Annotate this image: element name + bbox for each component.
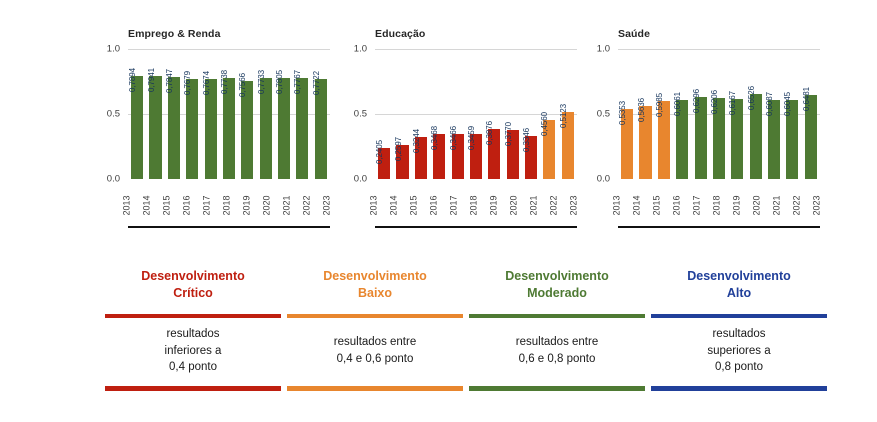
bar-value-label: 0,7722 [312, 71, 321, 95]
bar-slot: 0,6481 [802, 49, 820, 179]
bar-slot: 0,5636 [636, 49, 654, 179]
bar-value-label: 0,3346 [522, 128, 531, 152]
y-tick: 1.0 [597, 44, 610, 55]
bar-slot: 0,7941 [146, 49, 164, 179]
chart-emprego-renda: Emprego & Renda 1.0 0.5 0.0 0,78940,7941… [98, 28, 338, 243]
bar[interactable]: 0,6087 [768, 100, 780, 179]
bar-value-label: 0,5353 [618, 101, 627, 125]
bar[interactable]: 0,3468 [433, 134, 445, 179]
x-axis: 2013201420152016201720182019202020212022… [375, 176, 577, 222]
bar[interactable]: 0,3244 [415, 137, 427, 179]
bar-series: 0,24050,25970,32440,34680,34660,34590,38… [375, 49, 577, 179]
bar-value-label: 0,3459 [467, 126, 476, 150]
legend-title-line1: Desenvolvimento [687, 269, 791, 283]
bar[interactable]: 0,6061 [676, 100, 688, 179]
legend-title: Desenvolvimento Moderado [469, 268, 645, 308]
bar-value-label: 0,3244 [412, 129, 421, 153]
legend-desc-line2: inferiores a [165, 343, 222, 360]
bar[interactable]: 0,3466 [452, 134, 464, 179]
bar-value-label: 0,2405 [375, 140, 384, 164]
bar-value-label: 0,4560 [540, 112, 549, 136]
x-axis: 2013201420152016201720182019202020212022… [128, 176, 330, 222]
bar-slot: 0,7674 [201, 49, 219, 179]
bar[interactable]: 0,7674 [205, 79, 217, 179]
legend-rule-bottom [287, 386, 463, 391]
legend-desc-line3: 0,8 ponto [715, 359, 763, 376]
plot-area: 1.0 0.5 0.0 0,53530,56360,59850,60610,62… [588, 49, 828, 194]
x-axis: 2013201420152016201720182019202020212022… [618, 176, 820, 222]
bar[interactable]: 0,6206 [713, 98, 725, 179]
legend-rule-bottom [469, 386, 645, 391]
legend-item-alto: Desenvolvimento Alto resultados superior… [651, 268, 827, 391]
y-tick: 1.0 [354, 44, 367, 55]
bar-value-label: 0,3876 [485, 121, 494, 145]
bar-slot: 0,6296 [691, 49, 709, 179]
legend-title-line1: Desenvolvimento [141, 269, 245, 283]
plot-canvas: 0,24050,25970,32440,34680,34660,34590,38… [375, 49, 577, 179]
bar[interactable]: 0,2405 [378, 148, 390, 179]
bar[interactable]: 0,5636 [639, 106, 651, 179]
bar-slot: 0,4560 [540, 49, 558, 179]
bar-slot: 0,6167 [728, 49, 746, 179]
legend-title-line2: Moderado [527, 286, 587, 300]
bar[interactable]: 0,2597 [396, 145, 408, 179]
bar[interactable]: 0,6045 [786, 100, 798, 179]
bar-slot: 0,2405 [375, 49, 393, 179]
legend-title: Desenvolvimento Crítico [105, 268, 281, 308]
legend-item-critico: Desenvolvimento Crítico resultados infer… [105, 268, 281, 391]
legend-desc-line3: 0,4 ponto [169, 359, 217, 376]
axis-baseline [375, 226, 577, 228]
bar-value-label: 0,3466 [449, 126, 458, 150]
chart-saude: Saúde 1.0 0.5 0.0 0,53530,56360,59850,60… [588, 28, 828, 243]
y-tick: 0.5 [597, 109, 610, 120]
y-axis: 1.0 0.5 0.0 [98, 49, 124, 179]
legend-desc-line1: resultados entre [334, 334, 416, 351]
bar[interactable]: 0,3346 [525, 136, 537, 179]
y-tick: 0.0 [597, 174, 610, 185]
legend-title-line2: Baixo [358, 286, 392, 300]
legend-desc-line2: 0,4 e 0,6 ponto [337, 351, 414, 368]
legend-desc-line1: resultados [166, 326, 219, 343]
bar[interactable]: 0,3770 [507, 130, 519, 179]
charts-row: Emprego & Renda 1.0 0.5 0.0 0,78940,7941… [0, 0, 877, 245]
bar[interactable]: 0,6296 [695, 97, 707, 179]
bar-slot: 0,3459 [467, 49, 485, 179]
bar-value-label: 0,7805 [275, 70, 284, 94]
bar[interactable]: 0,7738 [223, 78, 235, 179]
bar[interactable]: 0,7767 [296, 78, 308, 179]
bar[interactable]: 0,3459 [470, 134, 482, 179]
y-axis: 1.0 0.5 0.0 [345, 49, 371, 179]
bar-slot: 0,6045 [783, 49, 801, 179]
bar-value-label: 0,6061 [673, 92, 682, 116]
bar-value-label: 0,2597 [394, 137, 403, 161]
bar-value-label: 0,3770 [504, 122, 513, 146]
bar-slot: 0,7767 [293, 49, 311, 179]
bar-value-label: 0,6167 [728, 91, 737, 115]
bar-value-label: 0,7847 [165, 69, 174, 93]
legend-title-line2: Crítico [173, 286, 213, 300]
bar[interactable]: 0,6167 [731, 99, 743, 179]
bar[interactable]: 0,6481 [805, 95, 817, 179]
bar-series: 0,78940,79410,78470,76790,76740,77380,75… [128, 49, 330, 179]
chart-educacao: Educação 1.0 0.5 0.0 0,24050,25970,32440… [345, 28, 585, 243]
bar[interactable]: 0,7805 [278, 78, 290, 179]
legend-desc-line1: resultados [712, 326, 765, 343]
bar-slot: 0,6087 [765, 49, 783, 179]
bar-slot: 0,7679 [183, 49, 201, 179]
legend-description: resultados inferiores a 0,4 ponto [105, 318, 281, 382]
bar-value-label: 0,3468 [430, 126, 439, 150]
bar-value-label: 0,5123 [559, 104, 568, 128]
bar[interactable]: 0,5123 [562, 112, 574, 179]
bar-slot: 0,7847 [165, 49, 183, 179]
legend-item-baixo: Desenvolvimento Baixo resultados entre 0… [287, 268, 463, 391]
y-tick: 0.0 [107, 174, 120, 185]
legend-desc-line2: 0,6 e 0,8 ponto [519, 351, 596, 368]
bar[interactable]: 0,7566 [241, 81, 253, 179]
bar-slot: 0,6206 [710, 49, 728, 179]
bar-slot: 0,3466 [448, 49, 466, 179]
chart-title: Emprego & Renda [128, 28, 338, 40]
bar-series: 0,53530,56360,59850,60610,62960,62060,61… [618, 49, 820, 179]
legend-description: resultados superiores a 0,8 ponto [651, 318, 827, 382]
plot-canvas: 0,53530,56360,59850,60610,62960,62060,61… [618, 49, 820, 179]
bar-value-label: 0,7674 [202, 71, 211, 95]
y-tick: 0.5 [354, 109, 367, 120]
axis-baseline [618, 226, 820, 228]
plot-area: 1.0 0.5 0.0 0,78940,79410,78470,76790,76… [98, 49, 338, 194]
bar-value-label: 0,6296 [692, 89, 701, 113]
bar-value-label: 0,6206 [710, 90, 719, 114]
bar-value-label: 0,7767 [293, 70, 302, 94]
bar-value-label: 0,5636 [637, 98, 646, 122]
legend-item-moderado: Desenvolvimento Moderado resultados entr… [469, 268, 645, 391]
legend-desc-line2: superiores a [707, 343, 770, 360]
bar-slot: 0,6526 [747, 49, 765, 179]
legend-desc-line1: resultados entre [516, 334, 598, 351]
bar[interactable]: 0,4560 [543, 120, 555, 179]
legend-title-line1: Desenvolvimento [323, 269, 427, 283]
legend-title: Desenvolvimento Baixo [287, 268, 463, 308]
legend-title-line1: Desenvolvimento [505, 269, 609, 283]
bar[interactable]: 0,7733 [260, 78, 272, 179]
legend: Desenvolvimento Crítico resultados infer… [0, 268, 877, 422]
bar[interactable]: 0,7679 [186, 79, 198, 179]
bar[interactable]: 0,3876 [488, 129, 500, 179]
bar-value-label: 0,5985 [655, 93, 664, 117]
bar-value-label: 0,7941 [147, 68, 156, 92]
bar-slot: 0,5985 [655, 49, 673, 179]
bar-slot: 0,3346 [522, 49, 540, 179]
bar-value-label: 0,6087 [765, 92, 774, 116]
bar-value-label: 0,7738 [220, 70, 229, 94]
bar-slot: 0,7805 [275, 49, 293, 179]
y-tick: 0.0 [354, 174, 367, 185]
legend-title: Desenvolvimento Alto [651, 268, 827, 308]
bar-slot: 0,7722 [312, 49, 330, 179]
bar-value-label: 0,6481 [802, 87, 811, 111]
chart-title: Educação [375, 28, 585, 40]
bar[interactable]: 0,7847 [168, 77, 180, 179]
y-axis: 1.0 0.5 0.0 [588, 49, 614, 179]
plot-canvas: 0,78940,79410,78470,76790,76740,77380,75… [128, 49, 330, 179]
bar-slot: 0,3244 [412, 49, 430, 179]
bar[interactable]: 0,5353 [621, 109, 633, 179]
bar-value-label: 0,7894 [128, 68, 137, 92]
legend-rule-bottom [651, 386, 827, 391]
bar[interactable]: 0,7722 [315, 79, 327, 179]
x-tick-label: 2023 [812, 195, 845, 215]
x-tick-slot: 2023 [818, 176, 838, 222]
bar-value-label: 0,7566 [238, 73, 247, 97]
bar-slot: 0,6061 [673, 49, 691, 179]
bar-slot: 0,3770 [504, 49, 522, 179]
bar-slot: 0,3468 [430, 49, 448, 179]
bar[interactable]: 0,6526 [750, 94, 762, 179]
legend-description: resultados entre 0,6 e 0,8 ponto [469, 318, 645, 382]
bar-slot: 0,7566 [238, 49, 256, 179]
bar[interactable]: 0,7941 [149, 76, 161, 179]
bar-slot: 0,7733 [257, 49, 275, 179]
legend-title-line2: Alto [727, 286, 751, 300]
bar-slot: 0,2597 [393, 49, 411, 179]
legend-description: resultados entre 0,4 e 0,6 ponto [287, 318, 463, 382]
bar-value-label: 0,7679 [183, 71, 192, 95]
bar-slot: 0,5353 [618, 49, 636, 179]
y-tick: 0.5 [107, 109, 120, 120]
bar-slot: 0,7894 [128, 49, 146, 179]
y-tick: 1.0 [107, 44, 120, 55]
bar-slot: 0,7738 [220, 49, 238, 179]
legend-rule-bottom [105, 386, 281, 391]
bar-slot: 0,5123 [559, 49, 577, 179]
bar[interactable]: 0,5985 [658, 101, 670, 179]
bar-value-label: 0,7733 [257, 71, 266, 95]
plot-area: 1.0 0.5 0.0 0,24050,25970,32440,34680,34… [345, 49, 585, 194]
axis-baseline [128, 226, 330, 228]
chart-title: Saúde [618, 28, 828, 40]
bar-slot: 0,3876 [485, 49, 503, 179]
bar-value-label: 0,6526 [747, 86, 756, 110]
bar-value-label: 0,6045 [783, 92, 792, 116]
bar[interactable]: 0,7894 [131, 76, 143, 179]
